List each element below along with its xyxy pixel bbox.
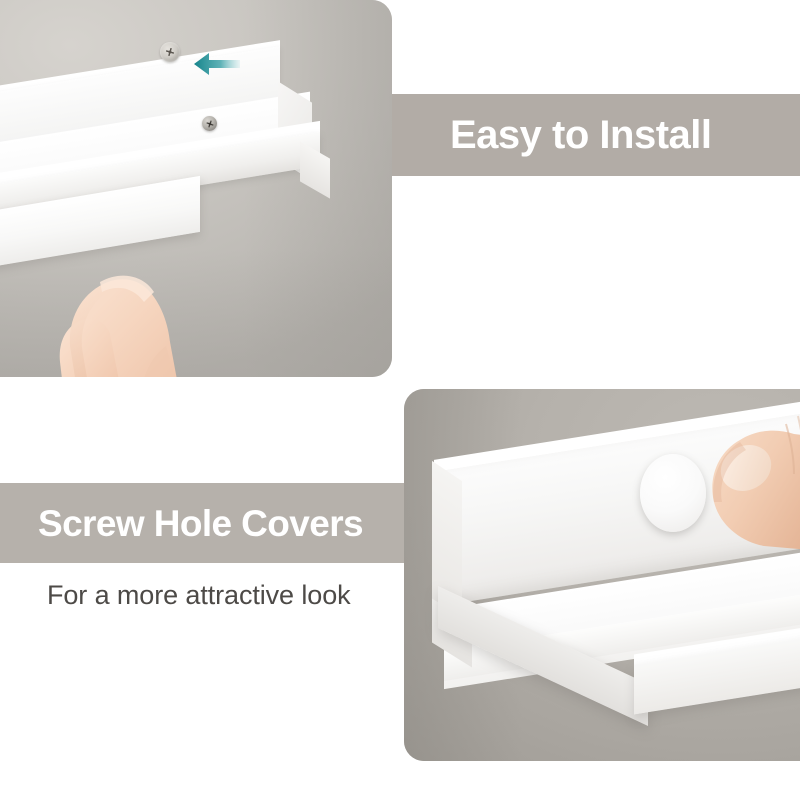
product-feature-collage: Easy to Install Screw Hole Covers For a … [0, 0, 800, 800]
banner-covers-subtitle: For a more attractive look [47, 580, 351, 611]
banner-screw-hole-covers: Screw Hole Covers [0, 483, 404, 563]
banner-covers-title: Screw Hole Covers [38, 505, 363, 542]
hand-illustration [690, 390, 800, 560]
screw-icon [202, 116, 217, 131]
hand-illustration [40, 196, 270, 377]
easy-to-install-photo-panel [0, 0, 392, 377]
banner-install-title: Easy to Install [450, 115, 711, 155]
banner-easy-to-install: Easy to Install [392, 94, 800, 176]
arrow-left-icon [192, 51, 242, 77]
screw-icon [160, 42, 180, 62]
